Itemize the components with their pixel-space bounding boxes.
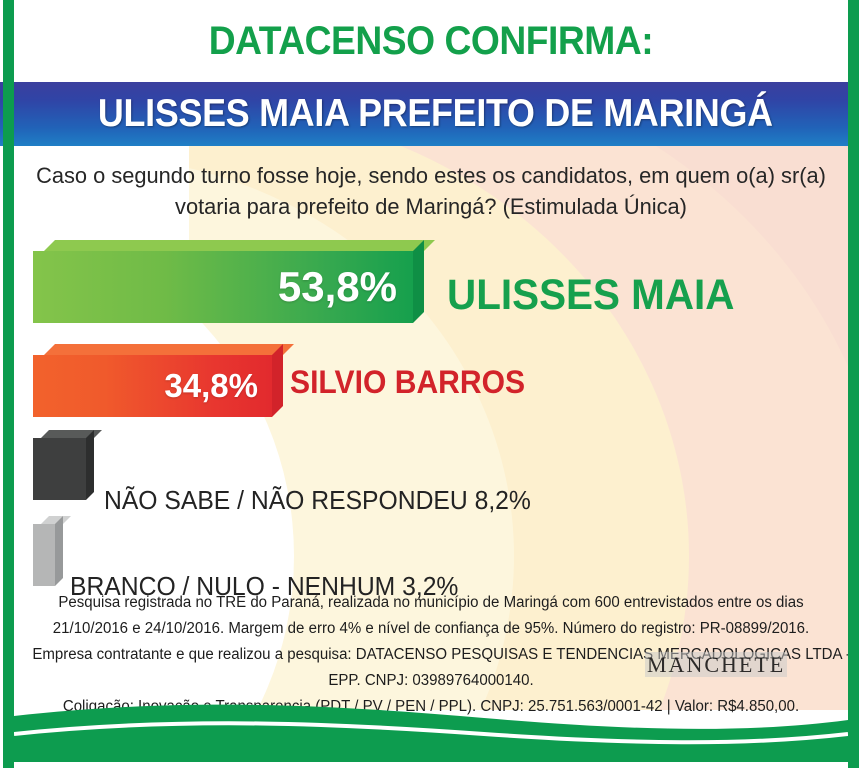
poll-question-line-2: votaria para prefeito de Maringá? (Estim…: [27, 191, 836, 222]
fineprint-line-1: Pesquisa registrada no TRE do Paraná, re…: [32, 590, 829, 616]
bar-front-face: 53,8%: [33, 251, 413, 323]
footer-wave-svg: [14, 694, 848, 762]
bar-front-face: 34,8%: [33, 355, 272, 417]
poll-question: Caso o segundo turno fosse hoje, sendo e…: [27, 160, 836, 222]
headline-text: DATACENSO CONFIRMA:: [209, 19, 653, 64]
headline-bar: DATACENSO CONFIRMA:: [14, 6, 848, 76]
bar-value-ulisses: 53,8%: [278, 263, 413, 311]
bar-front-face: [33, 438, 86, 500]
bar-top-face: [44, 344, 294, 355]
bar-label-nao-sabe: NÃO SABE / NÃO RESPONDEU 8,2%: [104, 485, 531, 516]
footer-wave-decoration: [14, 694, 848, 762]
manchete-watermark-text: MANCHETE: [645, 652, 787, 677]
subheadline-band: ULISSES MAIA PREFEITO DE MARINGÁ: [0, 82, 859, 146]
bar-label-ulisses: ULISSES MAIA: [447, 271, 734, 320]
poll-infographic: DATACENSO CONFIRMA: ULISSES MAIA PREFEIT…: [0, 0, 862, 768]
subheadline-text: ULISSES MAIA PREFEITO DE MARINGÁ: [86, 92, 772, 136]
bar-side-face: [86, 430, 94, 500]
fineprint-line-2: 21/10/2016 e 24/10/2016. Margem de erro …: [32, 616, 829, 642]
bar-top-face: [44, 240, 435, 251]
poll-question-line-1: Caso o segundo turno fosse hoje, sendo e…: [27, 160, 836, 191]
bar-side-face: [272, 344, 283, 417]
bar-side-face: [55, 516, 63, 586]
bar-label-silvio: SILVIO BARROS: [290, 364, 525, 401]
bar-value-silvio: 34,8%: [164, 367, 272, 405]
frame-border-right: [848, 0, 859, 768]
bar-front-face: [33, 524, 55, 586]
manchete-watermark: MANCHETE: [645, 652, 787, 678]
bar-side-face: [413, 240, 424, 323]
frame-border-left: [3, 0, 14, 768]
